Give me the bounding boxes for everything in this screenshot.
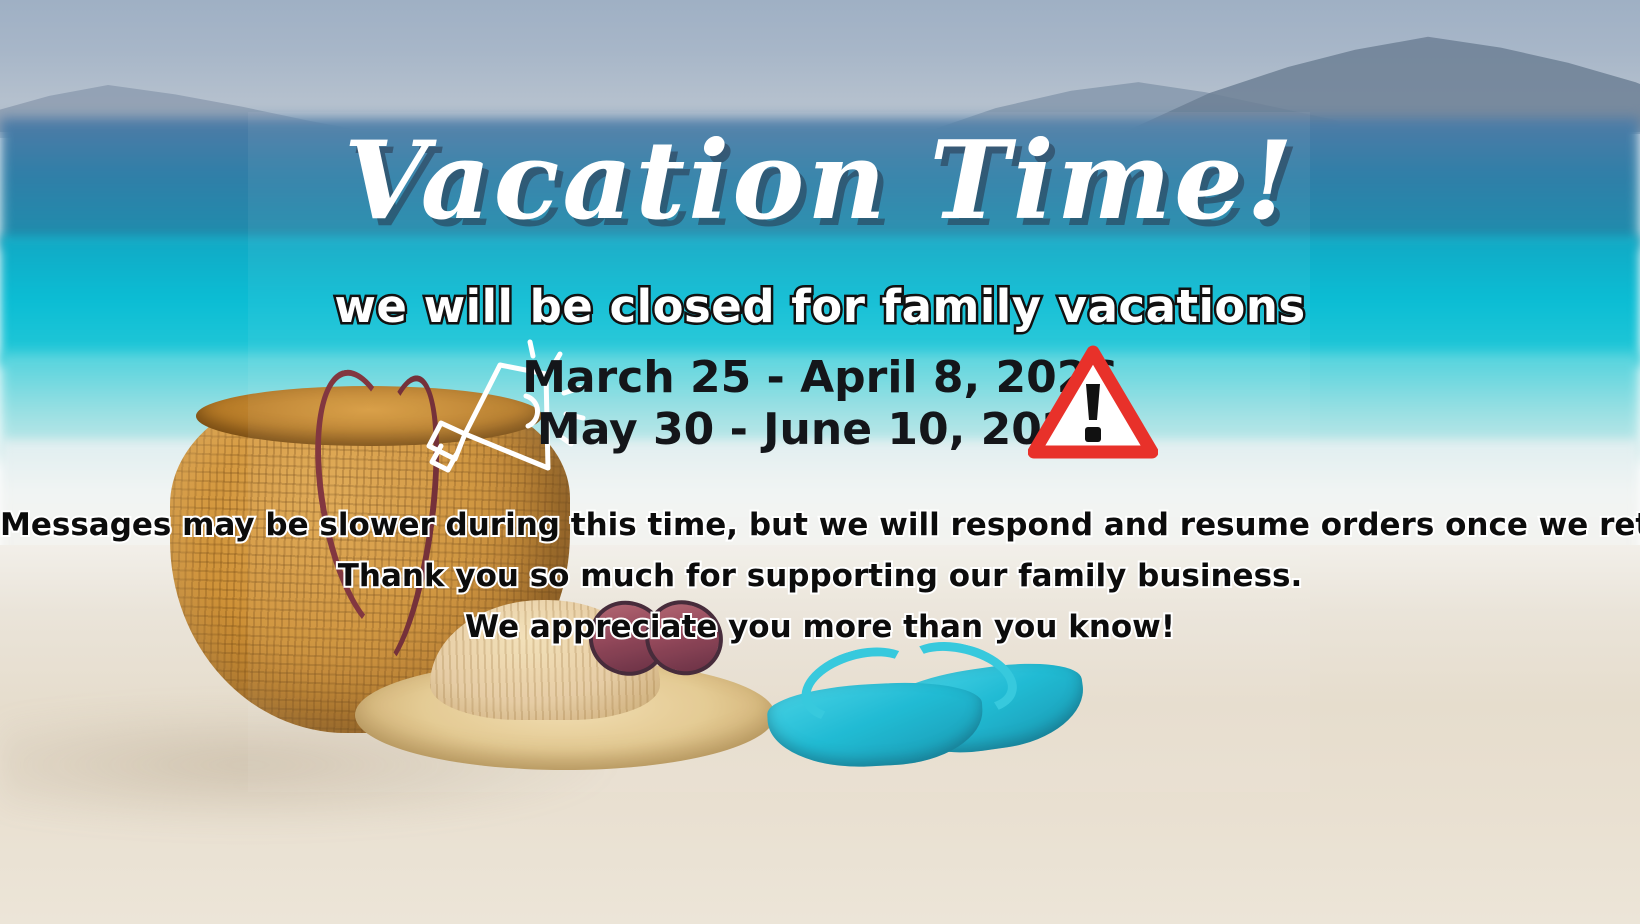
vacation-dates: March 25 - April 8, 2026 May 30 - June 1… bbox=[0, 352, 1640, 456]
body-line-1: Messages may be slower during this time,… bbox=[0, 500, 1640, 551]
date-range-2: May 30 - June 10, 2026 bbox=[0, 404, 1640, 456]
banner-content: Vacation Time! we will be closed for fam… bbox=[0, 0, 1640, 924]
body-line-3: We appreciate you more than you know! bbox=[0, 602, 1640, 653]
banner-title: Vacation Time! bbox=[0, 118, 1640, 244]
body-line-2: Thank you so much for supporting our fam… bbox=[0, 551, 1640, 602]
date-range-1: March 25 - April 8, 2026 bbox=[0, 352, 1640, 404]
warning-triangle-icon bbox=[1028, 344, 1158, 459]
banner-subtitle: we will be closed for family vacations bbox=[0, 280, 1640, 333]
vacation-announcement-banner: Vacation Time! we will be closed for fam… bbox=[0, 0, 1640, 924]
banner-body-text: Messages may be slower during this time,… bbox=[0, 500, 1640, 653]
